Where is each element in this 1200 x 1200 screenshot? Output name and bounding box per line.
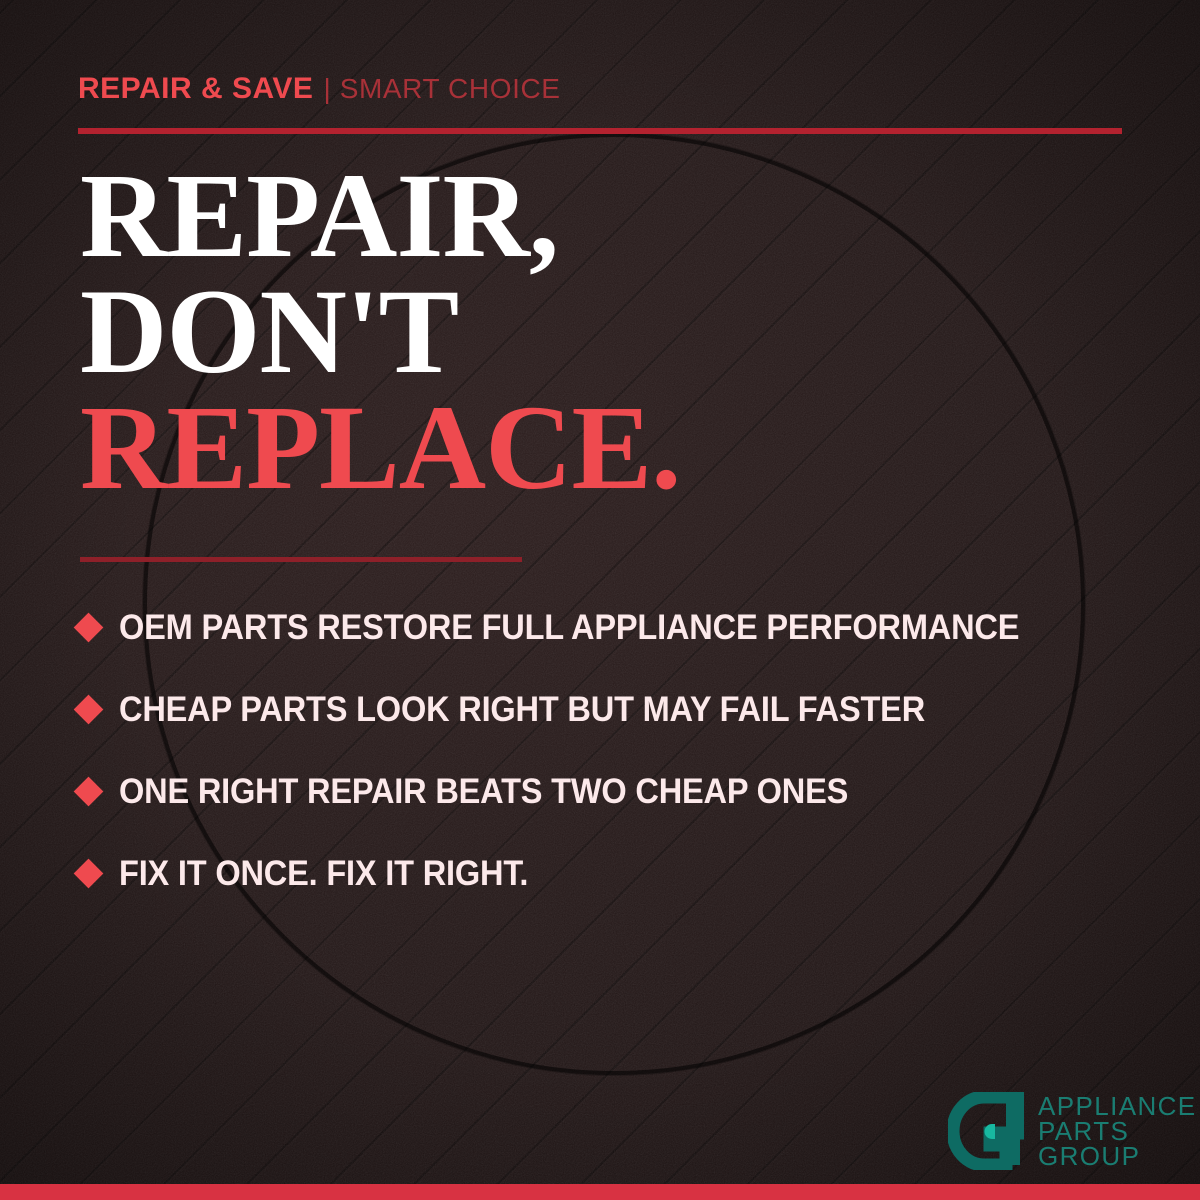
eyebrow: REPAIR & SAVE| SMART CHOICE (78, 74, 561, 104)
brand-logo-line-3: GROUP (1038, 1144, 1197, 1169)
diamond-bullet-icon (74, 776, 104, 806)
diamond-bullet-icon (74, 858, 104, 888)
list-item: CHEAP PARTS LOOK RIGHT BUT MAY FAIL FAST… (78, 668, 1158, 750)
g-monogram-icon (948, 1092, 1024, 1170)
bullets-divider-rule (80, 557, 522, 562)
list-item-label: FIX IT ONCE. FIX IT RIGHT. (119, 856, 528, 891)
headline: REPAIR, DON'T REPLACE. (80, 158, 1140, 506)
diamond-bullet-icon (74, 612, 104, 642)
poster-content: REPAIR & SAVE| SMART CHOICE REPAIR, DON'… (0, 0, 1200, 1200)
header-divider-rule (78, 128, 1122, 134)
list-item: OEM PARTS RESTORE FULL APPLIANCE PERFORM… (78, 586, 1158, 668)
headline-line-2: DON'T (80, 274, 1140, 390)
bullet-list: OEM PARTS RESTORE FULL APPLIANCE PERFORM… (78, 586, 1158, 914)
list-item-label: CHEAP PARTS LOOK RIGHT BUT MAY FAIL FAST… (119, 692, 925, 727)
promo-poster: REPAIR & SAVE| SMART CHOICE REPAIR, DON'… (0, 0, 1200, 1200)
list-item: ONE RIGHT REPAIR BEATS TWO CHEAP ONES (78, 750, 1158, 832)
list-item-label: ONE RIGHT REPAIR BEATS TWO CHEAP ONES (119, 774, 848, 809)
bottom-accent-bar (0, 1184, 1200, 1200)
list-item-label: OEM PARTS RESTORE FULL APPLIANCE PERFORM… (119, 610, 1019, 645)
diamond-bullet-icon (74, 694, 104, 724)
eyebrow-sub-label: | SMART CHOICE (323, 73, 560, 104)
list-item: FIX IT ONCE. FIX IT RIGHT. (78, 832, 1158, 914)
brand-logo: APPLIANCE PARTS GROUP (948, 1092, 1197, 1170)
brand-logo-wordmark: APPLIANCE PARTS GROUP (1038, 1092, 1197, 1169)
headline-line-1: REPAIR, (80, 158, 1140, 274)
headline-line-3-accent: REPLACE. (80, 390, 1140, 506)
eyebrow-main-label: REPAIR & SAVE (78, 72, 313, 105)
